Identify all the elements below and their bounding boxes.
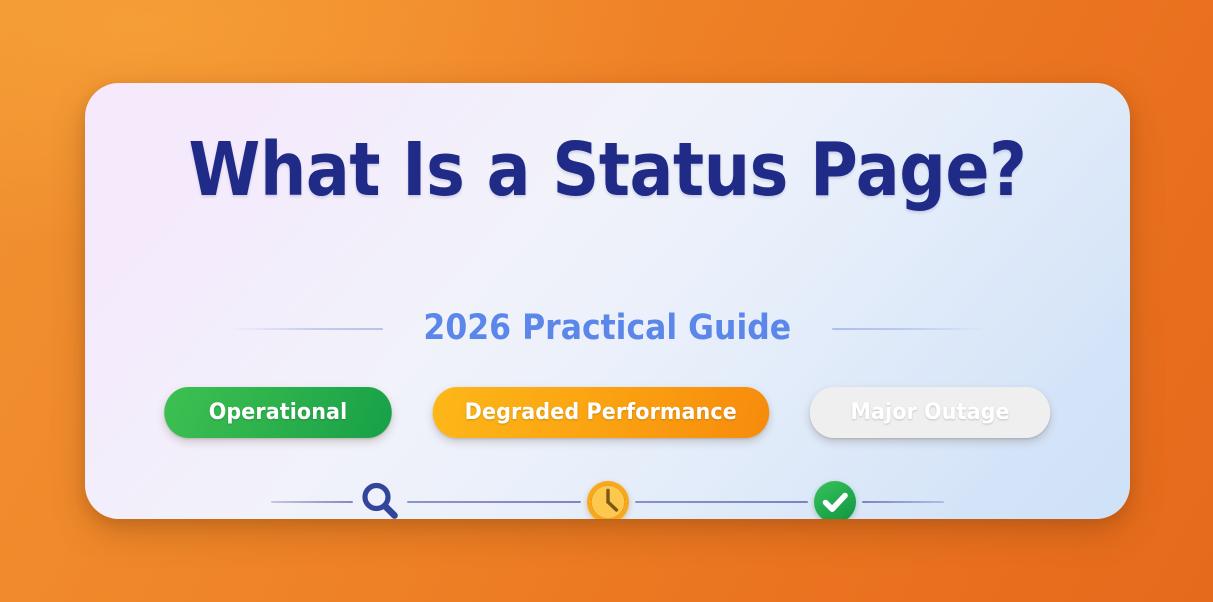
clock-icon: [585, 479, 631, 519]
check-circle-icon: [812, 479, 858, 519]
timeline-node-investigating[interactable]: [353, 475, 407, 519]
page-title: What Is a Status Page?: [148, 133, 1068, 207]
timeline-node-resolved[interactable]: [808, 475, 862, 519]
subtitle-rule-left: [233, 328, 383, 330]
timeline-connector-1: [407, 501, 581, 503]
page-subtitle: 2026 Practical Guide: [424, 311, 792, 346]
stage: What Is a Status Page? 2026 Practical Gu…: [0, 0, 1213, 602]
timeline-connector-start: [271, 501, 353, 503]
subtitle-rule-right: [832, 328, 982, 330]
status-badge-row: Operational Degraded Performance Major O…: [85, 387, 1130, 438]
search-icon: [357, 479, 403, 519]
card-content: What Is a Status Page? 2026 Practical Gu…: [85, 83, 1130, 519]
timeline-track: [271, 475, 944, 519]
subtitle-row: 2026 Practical Guide: [85, 311, 1130, 346]
timeline-connector-2: [635, 501, 809, 503]
timeline-node-monitoring[interactable]: [581, 475, 635, 519]
status-page-card: What Is a Status Page? 2026 Practical Gu…: [85, 83, 1130, 519]
status-badge-degraded-performance[interactable]: Degraded Performance: [432, 387, 768, 438]
timeline-connector-end: [862, 501, 944, 503]
incident-timeline: Investigating Monitoring Resolved: [271, 475, 944, 519]
status-badge-operational[interactable]: Operational: [164, 387, 391, 438]
status-badge-major-outage[interactable]: Major Outage: [810, 387, 1051, 438]
